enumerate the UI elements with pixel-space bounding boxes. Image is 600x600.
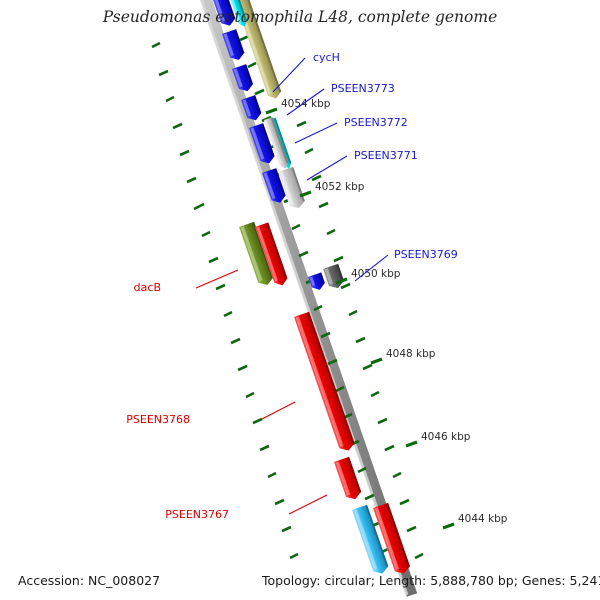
gene-label-pseen3772[interactable]: PSEEN3772 xyxy=(344,116,408,129)
gene-label-pseen3769[interactable]: PSEEN3769 xyxy=(394,248,458,261)
accession-text: Accession: NC_008027 xyxy=(18,573,160,588)
gene-label-pseen3773[interactable]: PSEEN3773 xyxy=(331,82,395,95)
ruler-tick-label: 4054 kbp xyxy=(281,98,331,110)
ruler-tick-label: 4048 kbp xyxy=(386,348,436,360)
map-background xyxy=(0,0,600,600)
gene-label-pseen3768[interactable]: PSEEN3768 xyxy=(126,413,190,426)
gene-label-pseen3767[interactable]: PSEEN3767 xyxy=(165,508,229,521)
ruler-tick-label: 4044 kbp xyxy=(458,513,508,525)
map-title: Pseudomonas entomophila L48, complete ge… xyxy=(102,8,498,26)
gene-label-dacb[interactable]: dacB xyxy=(134,281,161,294)
circular-genome-svg: 4054 kbp4052 kbp4050 kbp4048 kbp4046 kbp… xyxy=(0,0,600,600)
gene-label-pseen3771[interactable]: PSEEN3771 xyxy=(354,149,418,162)
genome-stats-text: Topology: circular; Length: 5,888,780 bp… xyxy=(261,573,600,588)
ruler-tick-label: 4046 kbp xyxy=(421,431,471,443)
ruler-tick-label: 4052 kbp xyxy=(315,181,365,193)
gene-label-cych[interactable]: cycH xyxy=(313,51,340,64)
genome-map-canvas: 4054 kbp4052 kbp4050 kbp4048 kbp4046 kbp… xyxy=(0,0,600,600)
